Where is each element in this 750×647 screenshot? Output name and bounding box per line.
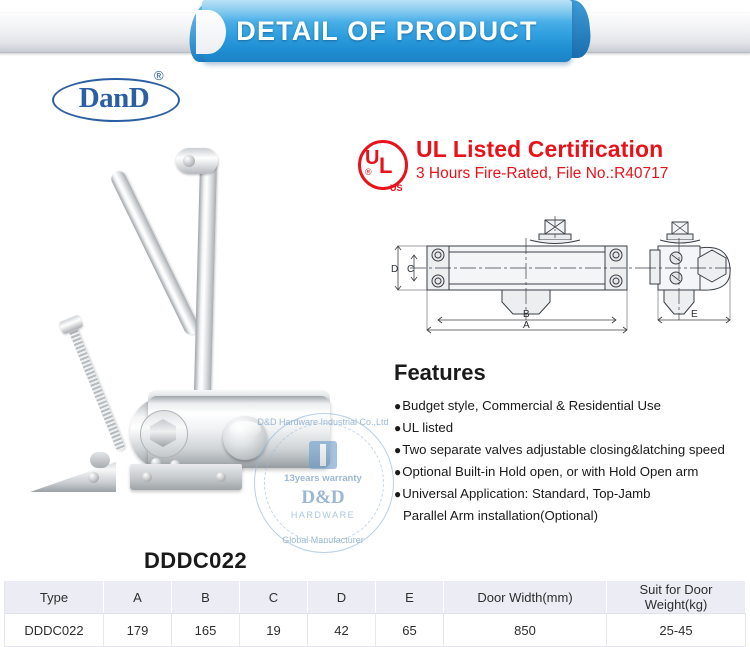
bullet-icon: ● <box>394 421 401 435</box>
cell-d: 42 <box>308 614 376 647</box>
registered-trademark-icon: ® <box>154 68 164 83</box>
ul-registered-icon: ® <box>365 167 372 177</box>
watermark-company-name: D&D Hardware Industrial Co.,Ltd <box>254 417 392 427</box>
product-model-label: DDDC022 <box>144 548 247 574</box>
logo-text: DanD <box>52 78 176 118</box>
cell-a: 179 <box>104 614 172 647</box>
feature-item: ●Optional Built-in Hold open, or with Ho… <box>394 461 750 483</box>
col-header-door-weight: Suit for Door Weight(kg) <box>607 581 746 614</box>
table-header-row: Type A B C D E Door Width(mm) Suit for D… <box>5 581 746 614</box>
page-title: DETAIL OF PRODUCT <box>202 0 572 62</box>
cell-door-width: 850 <box>444 614 607 647</box>
feature-item: ●UL listed <box>394 417 750 439</box>
bullet-icon: ● <box>394 399 401 413</box>
foot-screw <box>88 472 99 483</box>
certification-subtitle: 3 Hours Fire-Rated, File No.:R40717 <box>416 165 668 183</box>
bullet-icon: ● <box>394 465 401 479</box>
col-header-type: Type <box>5 581 104 614</box>
closer-adjustable-rod <box>66 322 125 451</box>
certification-title: UL Listed Certification <box>416 136 663 163</box>
watermark-tagline: Global Manufacturer <box>254 535 392 545</box>
col-header-e: E <box>376 581 444 614</box>
feature-text: Budget style, Commercial & Residential U… <box>402 398 661 413</box>
watermark-brand-sub: HARDWARE <box>254 510 392 520</box>
feature-item: ●Budget style, Commercial & Residential … <box>394 395 750 417</box>
cell-c: 19 <box>240 614 308 647</box>
dim-label-B: B <box>523 309 530 320</box>
watermark-logo-icon <box>309 441 337 469</box>
watermark-brand: D&D <box>254 487 392 509</box>
mount-hole-1 <box>142 472 152 482</box>
dim-label-A: A <box>523 320 530 331</box>
table-row: DDDC022 179 165 19 42 65 850 25-45 <box>5 614 746 647</box>
cell-b: 165 <box>172 614 240 647</box>
dim-label-C: C <box>407 264 414 275</box>
company-watermark: D&D Hardware Industrial Co.,Ltd 13years … <box>254 413 392 551</box>
bullet-icon: ● <box>394 487 401 501</box>
feature-text: UL listed <box>402 420 453 435</box>
feature-text: Optional Built-in Hold open, or with Hol… <box>402 464 698 479</box>
col-header-door-width: Door Width(mm) <box>444 581 607 614</box>
dim-label-E: E <box>691 309 698 320</box>
foot-tip <box>90 452 110 468</box>
cell-type: DDDC022 <box>5 614 104 647</box>
feature-item: ●Universal Application: Standard, Top-Ja… <box>394 483 750 505</box>
features-heading: Features <box>394 360 750 386</box>
brand-logo: DanD ® <box>44 66 194 122</box>
arm-foot-bracket <box>30 454 116 492</box>
cell-e: 65 <box>376 614 444 647</box>
page-banner: DETAIL OF PRODUCT <box>0 0 750 68</box>
ul-listed-icon: U L ® US <box>358 140 408 192</box>
col-header-a: A <box>104 581 172 614</box>
mounting-plate <box>130 464 242 490</box>
feature-text: Universal Application: Standard, Top-Jam… <box>402 486 650 501</box>
technical-drawing: D C B A E <box>382 216 750 334</box>
col-header-d: D <box>308 581 376 614</box>
feature-text: Two separate valves adjustable closing&l… <box>402 442 725 457</box>
ul-certification-block: U L ® US UL Listed Certification 3 Hours… <box>358 138 750 198</box>
feature-continuation: Parallel Arm installation(Optional) <box>394 505 750 527</box>
watermark-warranty: 13years warranty <box>254 473 392 484</box>
specification-table: Type A B C D E Door Width(mm) Suit for D… <box>4 580 746 647</box>
col-header-b: B <box>172 581 240 614</box>
arm-pivot-knuckle <box>176 148 218 174</box>
ul-us-label: US <box>390 183 403 193</box>
cell-door-weight: 25-45 <box>607 614 746 647</box>
bullet-icon: ● <box>394 443 401 457</box>
features-section: Features ●Budget style, Commercial & Res… <box>394 360 750 527</box>
mount-hole-2 <box>216 472 226 482</box>
closer-forearm <box>109 169 201 337</box>
feature-item: ●Two separate valves adjustable closing&… <box>394 439 750 461</box>
col-header-c: C <box>240 581 308 614</box>
dim-label-D: D <box>391 264 398 275</box>
ul-letter-l: L <box>379 153 392 179</box>
